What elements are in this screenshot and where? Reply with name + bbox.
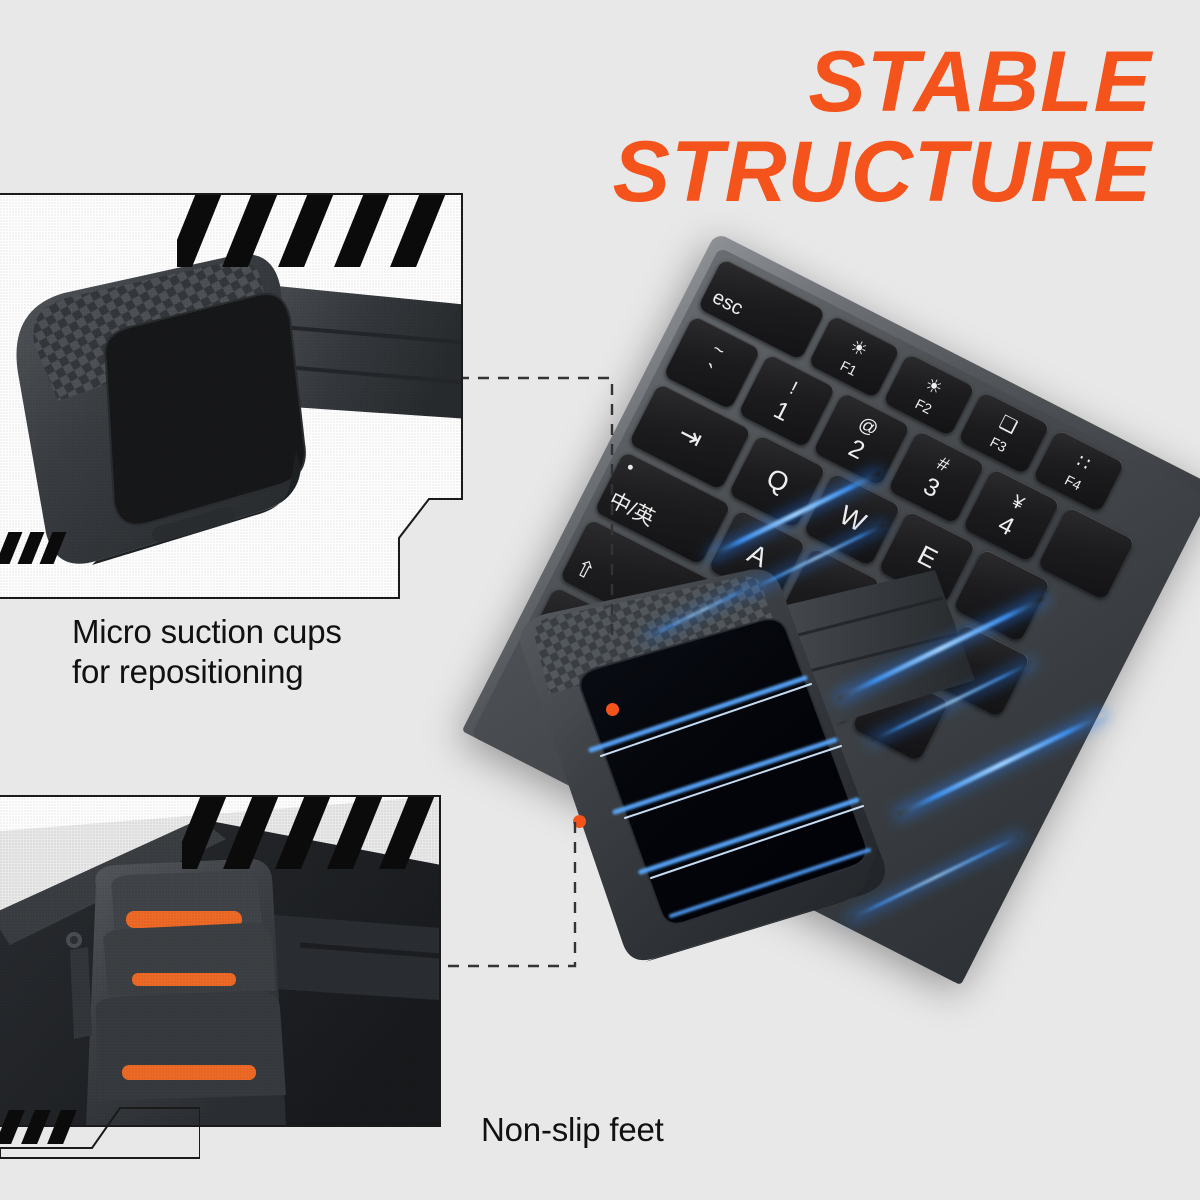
hazard-stripes-bottom-panel-bottom	[0, 1110, 80, 1144]
page-title: STABLE STRUCTURE	[613, 40, 1152, 215]
key-q-label: Q	[738, 452, 818, 511]
panel-non-slip-feet	[0, 795, 440, 1125]
stepped-kickstand	[86, 859, 286, 1125]
callout-marker-feet	[573, 815, 586, 828]
key-esc-label: esc	[709, 287, 746, 319]
headline-line-2: STRUCTURE	[613, 130, 1152, 214]
suction-mount-body	[16, 254, 304, 565]
hazard-stripes-top-panel-bottom	[0, 532, 70, 564]
caption-non-slip-feet: Non-slip feet	[481, 1110, 664, 1150]
non-slip-strip-3	[122, 1065, 256, 1080]
key-caps-lock-label: 中/英	[606, 489, 658, 529]
hazard-stripes-bottom-panel-top	[182, 795, 440, 869]
product-feature-graphic: STABLE STRUCTURE esc ☀ F1 ☀ F2 ❑	[0, 0, 1200, 1200]
caps-lock-led-icon	[627, 464, 634, 471]
headline-line-1: STABLE	[808, 34, 1152, 130]
hero-product-photo	[505, 560, 945, 980]
hazard-stripes-top	[177, 193, 462, 267]
callout-marker-suction	[606, 703, 619, 716]
non-slip-strip-2	[132, 973, 236, 986]
key-5	[1037, 506, 1136, 601]
caption-micro-suction-cups: Micro suction cups for repositioning	[72, 612, 342, 693]
tab-arrow-icon: ⇥	[638, 401, 743, 472]
